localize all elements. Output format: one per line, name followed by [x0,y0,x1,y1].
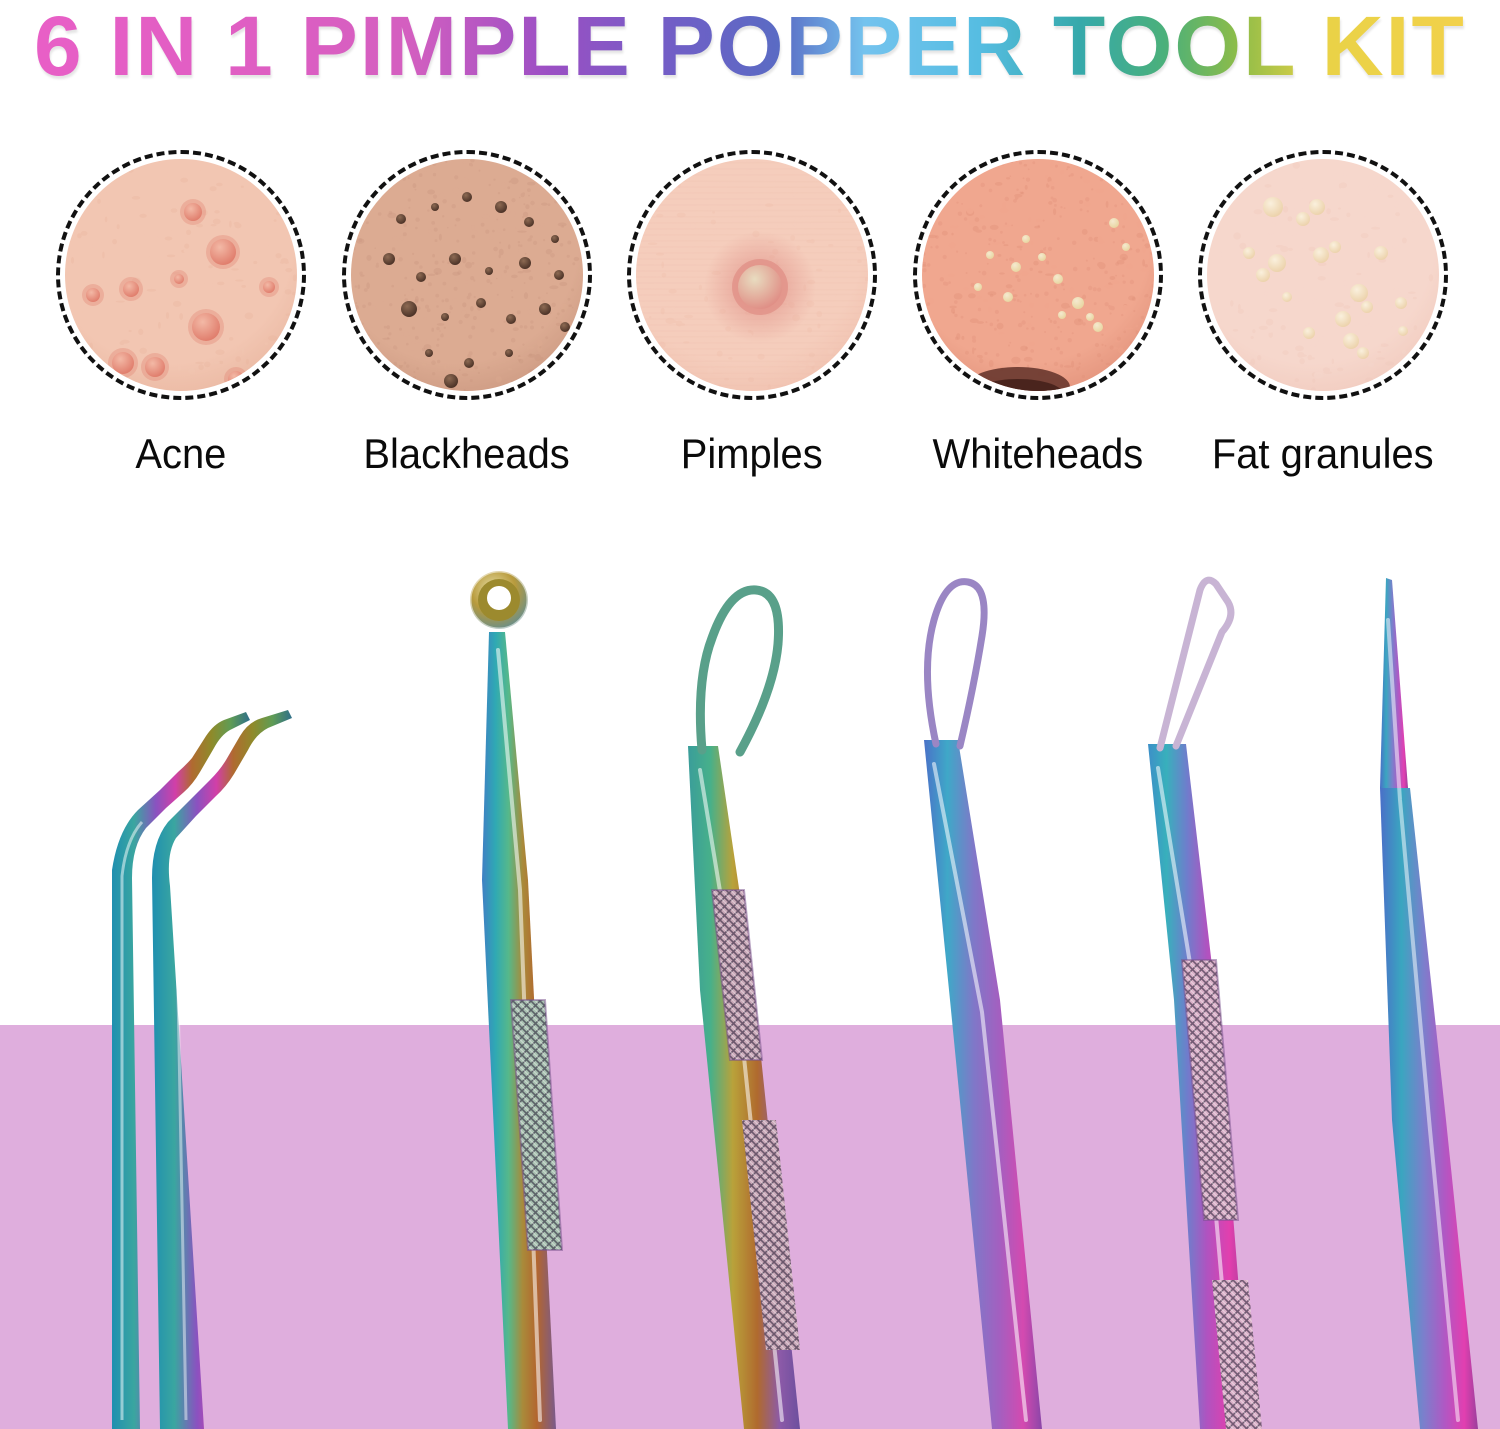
bent-tip-tweezers [112,710,292,1429]
condition-circle [56,150,306,400]
condition-label: Whiteheads [932,430,1143,478]
condition-label: Fat granules [1212,430,1434,478]
condition-item: Whiteheads [909,150,1167,478]
dashed-ring [1198,150,1448,400]
condition-circle [1198,150,1448,400]
dashed-ring [56,150,306,400]
title-bar: 6 IN 1 PIMPLE POPPER TOOL KIT [0,0,1500,92]
condition-circle [913,150,1163,400]
tools-row [0,560,1500,1429]
condition-circle [342,150,592,400]
condition-item: Pimples [623,150,881,478]
oval-loop-extractor [924,582,1042,1429]
product-marketing-image: 6 IN 1 PIMPLE POPPER TOOL KIT Acne Black… [0,0,1500,1429]
condition-circle [627,150,877,400]
condition-label: Blackheads [363,430,569,478]
conditions-row: Acne Blackheads Pimples [52,150,1452,500]
condition-item: Blackheads [338,150,596,478]
tools-illustration [0,560,1500,1429]
condition-label: Pimples [681,430,823,478]
dashed-ring [627,150,877,400]
dashed-ring [342,150,592,400]
lancet-needle [1380,578,1478,1429]
ring-loop-extractor [470,571,562,1429]
condition-item: Acne [52,150,310,478]
page-title: 6 IN 1 PIMPLE POPPER TOOL KIT [34,3,1466,89]
condition-label: Acne [136,430,227,478]
round-ring-tip [470,571,528,629]
condition-item: Fat granules [1194,150,1452,478]
dashed-ring [913,150,1163,400]
